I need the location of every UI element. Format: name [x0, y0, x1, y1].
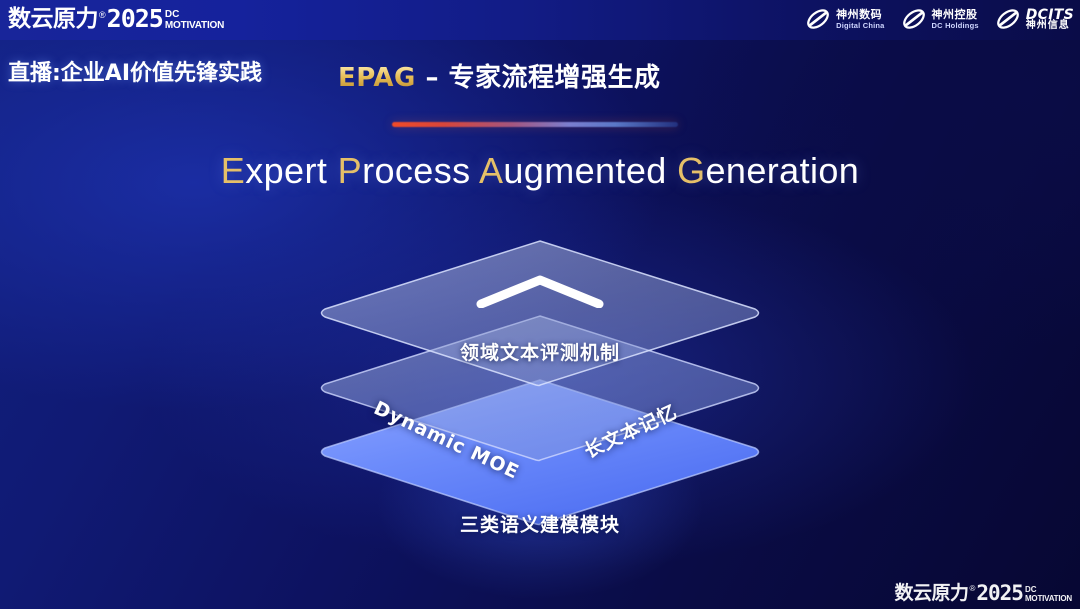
- chevron-up-icon: [475, 274, 605, 308]
- brand-dc-motivation: DC MOTIVATION: [165, 10, 224, 31]
- logo-label-en: DCITS: [1026, 9, 1074, 21]
- partner-logos: 神州数码 Digital China 神州控股 DC Holdings: [805, 6, 1074, 32]
- page-title-abbr: EPAG: [338, 63, 416, 93]
- acronym-cap-e: E: [221, 150, 245, 191]
- watermark-year: 2025: [976, 583, 1023, 603]
- brand-year: 2025: [107, 7, 163, 31]
- logo-label-cn: 神州信息: [1026, 21, 1074, 30]
- stack-layer-top-label: 领域文本评测机制: [315, 338, 765, 365]
- brand-motivation-text: MOTIVATION: [165, 20, 224, 31]
- watermark-motivation-text: MOTIVATION: [1025, 594, 1072, 603]
- logo-label-cn: 神州控股: [932, 9, 979, 21]
- acronym-rest-augmented: ugmented: [503, 150, 666, 191]
- logo-label-en: Digital China: [836, 21, 884, 30]
- watermark-name-cn: 数云原力: [894, 583, 968, 603]
- layer-stack-diagram: 领域文本评测机制 Dynamic MOE 长文本记忆 三类语义建模模块: [315, 230, 765, 578]
- logo-dc-holdings: 神州控股 DC Holdings: [901, 6, 979, 32]
- swirl-icon: [805, 6, 831, 32]
- swirl-icon: [901, 6, 927, 32]
- brand-dc-text: DC: [165, 10, 224, 20]
- logo-digital-china: 神州数码 Digital China: [805, 6, 884, 32]
- logo-dcits: DCITS 神州信息: [995, 6, 1074, 32]
- swirl-icon: [995, 6, 1021, 32]
- acronym-cap-p: P: [338, 150, 362, 191]
- watermark-dc-text: DC: [1025, 586, 1072, 594]
- stack-layer-top[interactable]: [315, 237, 765, 389]
- acronym-cap-a: A: [479, 150, 503, 191]
- acronym-cap-g: G: [677, 150, 705, 191]
- acronym-rest-expert: xpert: [245, 150, 327, 191]
- page-title: EPAG – 专家流程增强生成: [338, 57, 661, 94]
- stack-layer-bottom-label: 三类语义建模模块: [315, 510, 765, 537]
- acronym-rest-process: rocess: [362, 150, 470, 191]
- expanded-acronym: Expert Process Augmented Generation: [0, 150, 1080, 192]
- acronym-rest-generation: eneration: [706, 150, 860, 191]
- top-bar: 数云原力 ® 2025 DC MOTIVATION 神州数码 Digital C…: [0, 0, 1080, 40]
- footer-watermark: 数云原力 ® 2025 DC MOTIVATION: [894, 583, 1072, 603]
- slide-canvas: 数云原力 ® 2025 DC MOTIVATION 神州数码 Digital C…: [0, 0, 1080, 609]
- watermark-registered-mark: ®: [969, 584, 975, 594]
- brand-name-cn: 数云原力: [8, 7, 98, 31]
- watermark-dc-motivation: DC MOTIVATION: [1025, 586, 1072, 603]
- page-title-cn: – 专家流程增强生成: [416, 63, 661, 93]
- gradient-divider: [392, 122, 678, 127]
- logo-label-en: DC Holdings: [932, 21, 979, 30]
- logo-label-cn: 神州数码: [836, 9, 884, 21]
- brand-logo: 数云原力 ® 2025 DC MOTIVATION: [8, 5, 224, 31]
- live-stream-title: 直播:企业AI价值先锋实践: [8, 55, 262, 87]
- registered-mark: ®: [99, 10, 106, 20]
